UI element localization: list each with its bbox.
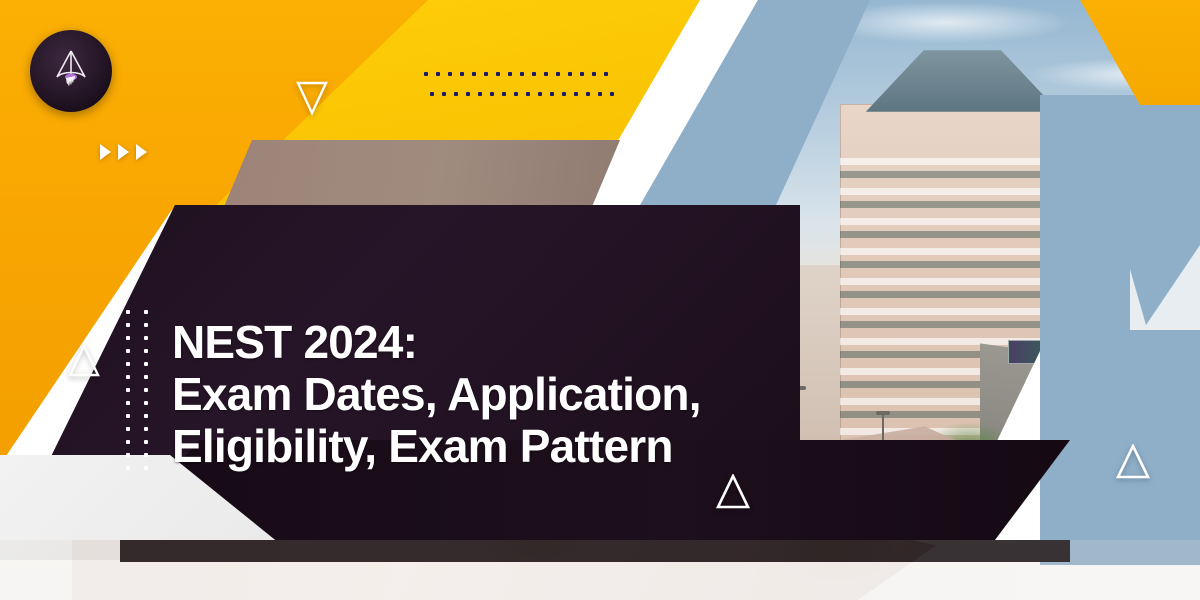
- faded-road: [72, 540, 936, 600]
- play-arrow-icon: [136, 144, 147, 160]
- dot: [126, 440, 130, 444]
- dot: [144, 440, 148, 444]
- dot: [126, 427, 130, 431]
- dot: [544, 72, 548, 76]
- dot: [144, 375, 148, 379]
- dot: [490, 92, 494, 96]
- title-line-2: Exam Dates, Application,: [172, 368, 792, 420]
- triangle-down-icon: [296, 80, 328, 116]
- dot: [126, 362, 130, 366]
- dot: [496, 72, 500, 76]
- dot: [144, 466, 148, 470]
- nest-2024-hero-banner: NEST 2024: Exam Dates, Application, Elig…: [0, 0, 1200, 600]
- dot: [144, 349, 148, 353]
- dot: [604, 72, 608, 76]
- dot: [144, 453, 148, 457]
- site-logo-badge[interactable]: [30, 30, 112, 112]
- dot: [574, 92, 578, 96]
- title-line-3: Eligibility, Exam Pattern: [172, 420, 792, 472]
- dot: [520, 72, 524, 76]
- play-arrow-icon: [100, 144, 111, 160]
- triangle-up-icon: [1116, 444, 1150, 480]
- dot: [568, 72, 572, 76]
- dot: [436, 72, 440, 76]
- dot: [586, 92, 590, 96]
- dot: [562, 92, 566, 96]
- dot: [454, 92, 458, 96]
- dot: [144, 362, 148, 366]
- dot: [550, 92, 554, 96]
- dot: [144, 388, 148, 392]
- dot: [144, 414, 148, 418]
- title-line-1: NEST 2024:: [172, 316, 792, 368]
- dot: [580, 72, 584, 76]
- dot: [126, 453, 130, 457]
- dot: [126, 310, 130, 314]
- play-arrow-icon: [118, 144, 129, 160]
- dot: [126, 375, 130, 379]
- triangle-up-icon: [68, 344, 100, 378]
- dot: [472, 72, 476, 76]
- dot: [126, 388, 130, 392]
- dot: [478, 92, 482, 96]
- dot: [144, 323, 148, 327]
- dot: [502, 92, 506, 96]
- page-title: NEST 2024: Exam Dates, Application, Elig…: [172, 316, 792, 472]
- dot: [538, 92, 542, 96]
- dot: [484, 72, 488, 76]
- dot: [126, 414, 130, 418]
- dot: [144, 427, 148, 431]
- dot: [442, 92, 446, 96]
- dot: [514, 92, 518, 96]
- dot: [466, 92, 470, 96]
- dot: [126, 349, 130, 353]
- dot-grid-white-icon: [126, 310, 162, 479]
- triangle-up-icon: [716, 474, 750, 510]
- dot-grid-blue-icon: [424, 72, 616, 112]
- dot: [526, 92, 530, 96]
- dot: [508, 72, 512, 76]
- dot: [448, 72, 452, 76]
- dot: [126, 466, 130, 470]
- dot: [144, 401, 148, 405]
- faded-photo-scene: [0, 540, 1200, 600]
- rocket-launch-icon: [48, 46, 94, 97]
- dot: [532, 72, 536, 76]
- dot: [144, 336, 148, 340]
- dot: [610, 92, 614, 96]
- dot: [430, 92, 434, 96]
- dot: [126, 336, 130, 340]
- dot: [126, 323, 130, 327]
- dot: [424, 72, 428, 76]
- triple-play-arrow-icon: [100, 144, 147, 160]
- dot: [592, 72, 596, 76]
- dot: [126, 401, 130, 405]
- dot: [598, 92, 602, 96]
- dot: [556, 72, 560, 76]
- dot: [460, 72, 464, 76]
- faded-photo-strip: [0, 540, 1200, 600]
- dot: [144, 310, 148, 314]
